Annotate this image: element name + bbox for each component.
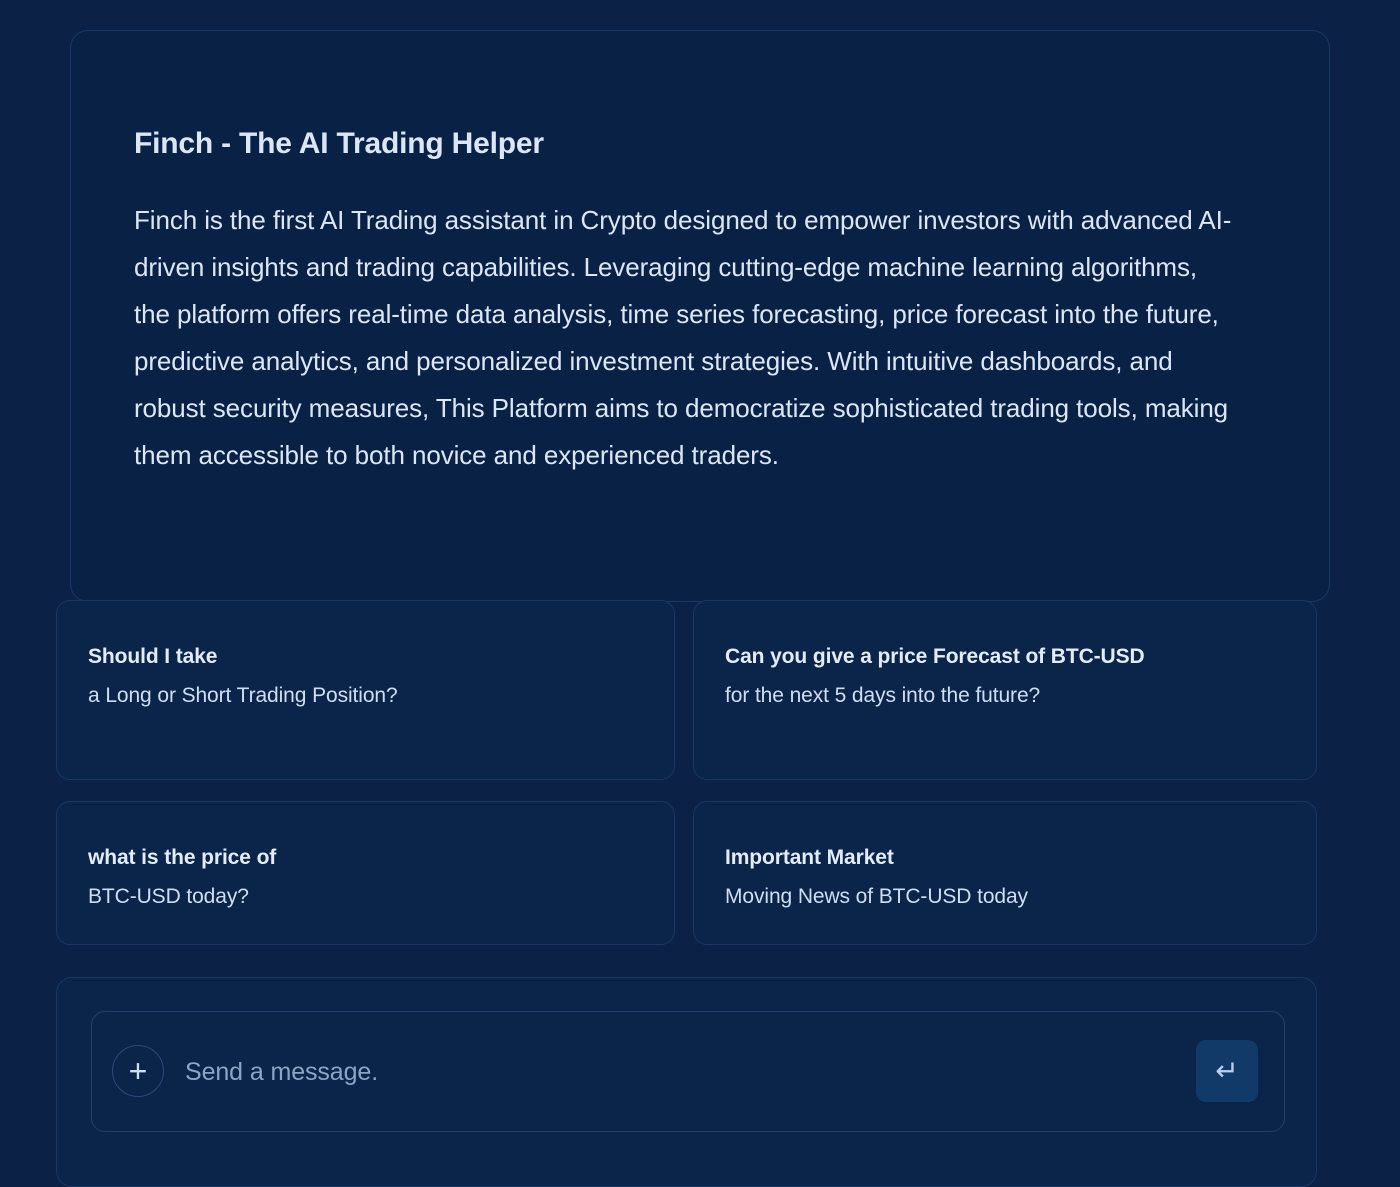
suggestion-card-current-price[interactable]: what is the price of BTC-USD today? — [56, 801, 675, 945]
suggestion-title: what is the price of — [88, 838, 608, 877]
suggestion-card-price-forecast[interactable]: Can you give a price Forecast of BTC-USD… — [693, 600, 1317, 780]
composer-container: + ↵ — [56, 977, 1317, 1187]
message-input[interactable] — [183, 1042, 1177, 1102]
suggestion-subtitle: BTC-USD today? — [88, 877, 618, 916]
suggestion-card-long-short[interactable]: Should I take a Long or Short Trading Po… — [56, 600, 675, 780]
suggestion-card-market-news[interactable]: Important Market Moving News of BTC-USD … — [693, 801, 1317, 945]
suggestion-subtitle: Moving News of BTC-USD today — [725, 877, 1255, 916]
suggestion-subtitle: a Long or Short Trading Position? — [88, 676, 618, 715]
page-title: Finch - The AI Trading Helper — [134, 127, 544, 161]
suggestion-title: Should I take — [88, 637, 608, 676]
suggestion-grid: Should I take a Long or Short Trading Po… — [56, 600, 1317, 945]
plus-icon: + — [113, 1046, 163, 1096]
suggestion-title: Can you give a price Forecast of BTC-USD — [725, 637, 1245, 676]
send-button[interactable]: ↵ — [1196, 1040, 1258, 1102]
message-input-wrapper: + ↵ — [91, 1011, 1285, 1132]
attach-button[interactable]: + — [112, 1045, 164, 1097]
intro-description: Finch is the first AI Trading assistant … — [134, 197, 1239, 479]
suggestion-subtitle: for the next 5 days into the future? — [725, 676, 1255, 715]
enter-return-arrow-icon: ↵ — [1215, 1057, 1238, 1085]
intro-card: Finch - The AI Trading Helper Finch is t… — [70, 30, 1330, 602]
chat-welcome-screen: Finch - The AI Trading Helper Finch is t… — [0, 0, 1400, 1163]
suggestion-title: Important Market — [725, 838, 1245, 877]
